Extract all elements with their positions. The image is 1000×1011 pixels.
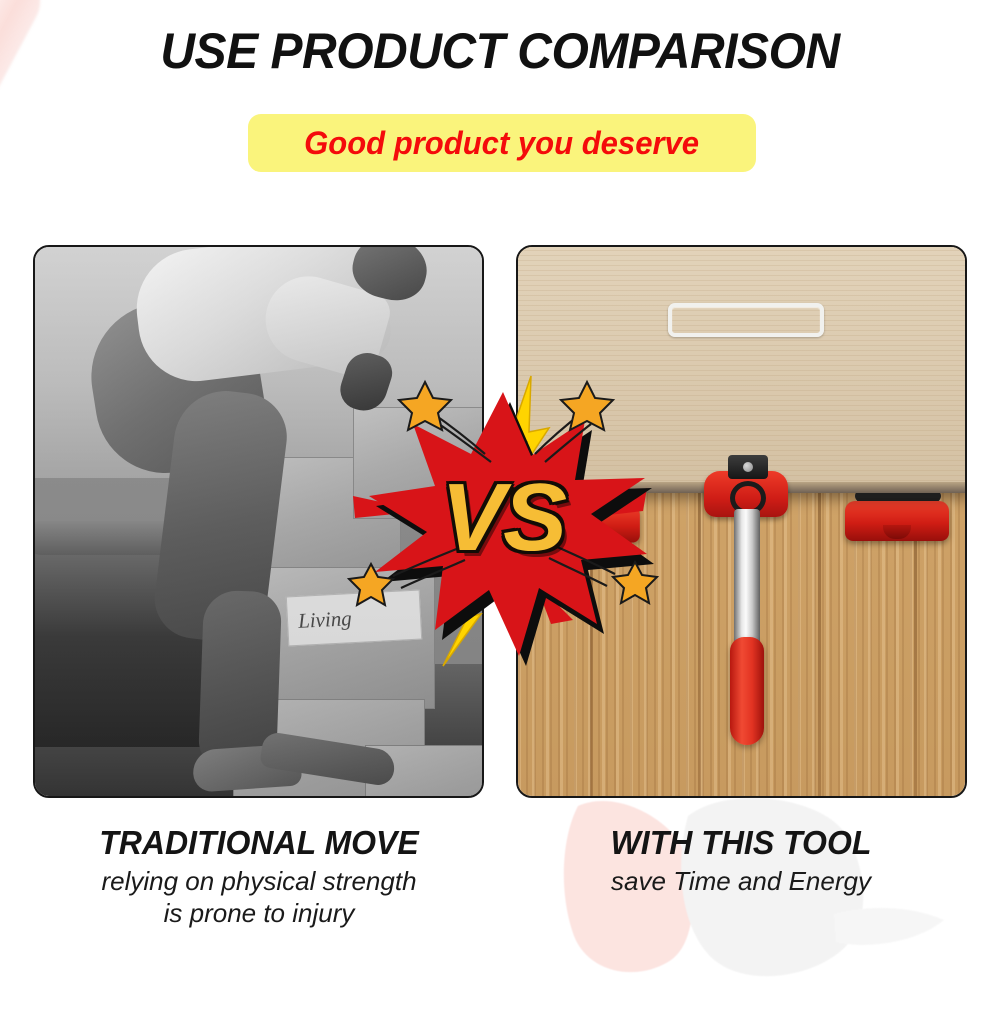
lifter-steel-shaft — [734, 509, 760, 645]
comparison-panel-right — [516, 245, 967, 798]
drawer-handle — [668, 303, 824, 337]
caption-left-title: TRADITIONAL MOVE — [31, 824, 487, 863]
roller-dolly — [544, 487, 640, 542]
page-title: USE PRODUCT COMPARISON — [20, 22, 980, 80]
caption-right-title: WITH THIS TOOL — [513, 824, 969, 863]
moving-box — [353, 407, 484, 519]
caption-right: WITH THIS TOOL save Time and Energy — [506, 824, 976, 898]
subtitle-text: Good product you deserve — [305, 125, 700, 162]
comparison-panel-left: Bedroom Living B — [33, 245, 484, 798]
furniture-lifter-tool — [704, 447, 788, 747]
dolly-body — [845, 501, 949, 541]
subtitle-badge: Good product you deserve — [248, 114, 756, 172]
caption-right-line1: save Time and Energy — [506, 866, 976, 898]
caption-left: TRADITIONAL MOVE relying on physical str… — [24, 824, 494, 929]
lifter-red-grip — [730, 637, 764, 745]
with-tool-photo — [518, 247, 965, 796]
traditional-move-photo: Bedroom Living B — [35, 247, 482, 796]
watermark-tool-wedge — [834, 908, 944, 945]
person-bending — [75, 245, 355, 798]
dolly-body — [544, 506, 640, 543]
lifter-bracket — [728, 455, 768, 479]
caption-left-line1: relying on physical strength — [24, 866, 494, 898]
caption-left-line2: is prone to injury — [24, 898, 494, 930]
